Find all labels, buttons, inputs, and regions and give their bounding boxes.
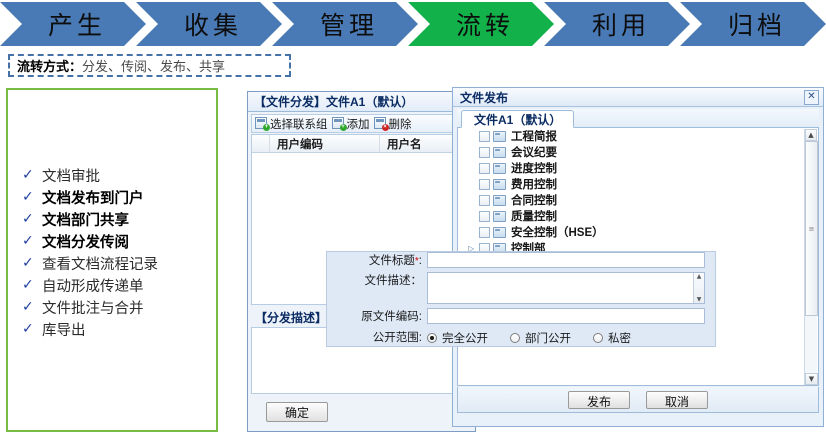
tree-node-checkbox[interactable]	[479, 195, 490, 206]
toolbar-button-label: 添加	[347, 116, 370, 132]
checklist-item-label: 查看文档流程记录	[42, 253, 158, 274]
feature-checklist: ✓文档审批✓文档发布到门户✓文档部门共享✓文档分发传阅✓查看文档流程记录✓自动形…	[22, 164, 158, 340]
process-step-6: 归档	[680, 2, 826, 46]
tree-node[interactable]: 工程简报	[458, 128, 818, 144]
file-distribution-toolbar: +选择联系组+添加×删除	[251, 114, 472, 133]
orig-file-code-label: 原文件编码:	[327, 308, 427, 327]
tree-node-checkbox[interactable]	[479, 227, 490, 238]
flow-method-value: 分发、传阅、发布、共享	[82, 56, 225, 75]
scope-label: 公开范围:	[327, 329, 427, 348]
toolbar-button-label: 删除	[389, 116, 412, 132]
radio-icon[interactable]	[427, 333, 437, 343]
form-row-title: 文件标题*:	[327, 252, 715, 272]
tree-node[interactable]: 费用控制	[458, 176, 818, 192]
checklist-item: ✓文档部门共享	[22, 208, 158, 230]
checklist-item: ✓文档分发传阅	[22, 230, 158, 252]
checklist-item: ✓自动形成传递单	[22, 274, 158, 296]
tree-node-label: 费用控制	[511, 176, 557, 192]
check-icon: ✓	[22, 321, 42, 337]
checklist-item-label: 文档发布到门户	[42, 187, 144, 208]
check-icon: ✓	[22, 167, 42, 183]
tree-node-label: 合同控制	[511, 192, 557, 208]
flow-method-title: 流转方式：	[17, 56, 82, 75]
tree-node-label: 工程简报	[511, 128, 557, 144]
checklist-item: ✓文档发布到门户	[22, 186, 158, 208]
file-info-form-dialog: 文件标题*: 文件描述： ▲ ▼ 原文件编码: 公开范围: 完全公开部门公开私密	[326, 251, 716, 347]
process-step-4: 流转	[408, 2, 554, 46]
delete-icon: ×	[374, 117, 388, 130]
process-step-1: 产生	[0, 2, 146, 46]
scrollbar-thumb[interactable]: ≡	[805, 141, 818, 316]
tree-node[interactable]: 安全控制（HSE）	[458, 224, 818, 240]
process-step-label: 产生	[48, 6, 106, 42]
radio-icon[interactable]	[510, 333, 520, 343]
toolbar-select-group[interactable]: +选择联系组	[255, 116, 328, 132]
process-banner: 产生收集管理流转利用归档	[0, 2, 826, 46]
checklist-item-label: 文件批注与合并	[42, 297, 144, 318]
scope-radio-label: 完全公开	[442, 330, 488, 346]
file-title-label: 文件标题*:	[327, 252, 427, 271]
file-publish-title: 文件发布	[460, 89, 804, 106]
textarea-scrollbar[interactable]: ▲ ▼	[693, 273, 704, 303]
user-grid-header: 用户编码 用户名	[252, 135, 471, 153]
tab-file-a1[interactable]: 文件A1（默认）	[461, 110, 574, 128]
folder-icon	[493, 179, 506, 190]
process-step-label: 归档	[728, 6, 786, 42]
file-distribution-title: 【文件分发】文件A1（默认）	[248, 92, 475, 112]
process-step-5: 利用	[544, 2, 690, 46]
checklist-item-label: 文档部门共享	[42, 209, 129, 230]
checklist-item: ✓文档审批	[22, 164, 158, 186]
tree-node-label: 进度控制	[511, 160, 557, 176]
scroll-down-icon[interactable]: ▼	[697, 296, 702, 303]
tree-node[interactable]: 会议纪要	[458, 144, 818, 160]
scope-option-group: 完全公开部门公开私密	[427, 330, 653, 346]
tree-node-label: 安全控制（HSE）	[511, 224, 604, 240]
scope-radio-option[interactable]: 部门公开	[510, 330, 571, 346]
form-row-origcode: 原文件编码:	[327, 308, 715, 328]
scope-radio-option[interactable]: 私密	[593, 330, 631, 346]
tree-node-checkbox[interactable]	[479, 211, 490, 222]
file-publish-tabstrip: 文件A1（默认）	[457, 109, 819, 128]
toolbar-button-label: 选择联系组	[270, 116, 328, 132]
user-grid-col-code: 用户编码	[270, 135, 380, 152]
check-icon: ✓	[22, 255, 42, 271]
scope-radio-label: 私密	[608, 330, 631, 346]
checklist-item-label: 自动形成传递单	[42, 275, 144, 296]
form-row-desc: 文件描述： ▲ ▼	[327, 272, 715, 308]
close-icon[interactable]: ✕	[804, 90, 819, 105]
select-group-icon: +	[255, 117, 269, 130]
checklist-item: ✓查看文档流程记录	[22, 252, 158, 274]
toolbar-add[interactable]: +添加	[332, 116, 370, 132]
tree-node-label: 会议纪要	[511, 144, 557, 160]
tree-node[interactable]: 质量控制	[458, 208, 818, 224]
form-row-scope: 公开范围: 完全公开部门公开私密	[327, 328, 715, 348]
file-publish-titlebar: 文件发布 ✕	[453, 88, 823, 107]
check-icon: ✓	[22, 233, 42, 249]
folder-icon	[493, 211, 506, 222]
process-step-label: 管理	[320, 6, 378, 42]
cancel-button[interactable]: 取消	[646, 391, 708, 409]
check-icon: ✓	[22, 299, 42, 315]
add-icon: +	[332, 117, 346, 130]
tree-node-checkbox[interactable]	[479, 179, 490, 190]
tree-node-label: 质量控制	[511, 208, 557, 224]
scroll-up-icon[interactable]: ▲	[697, 273, 702, 280]
file-desc-textarea[interactable]: ▲ ▼	[427, 272, 705, 304]
user-grid-col-select	[252, 135, 270, 152]
confirm-button[interactable]: 确定	[266, 402, 328, 422]
checklist-item-label: 库导出	[42, 319, 86, 340]
tree-node-checkbox[interactable]	[479, 163, 490, 174]
tree-node[interactable]: 合同控制	[458, 192, 818, 208]
scroll-down-icon[interactable]: ▼	[805, 373, 818, 385]
folder-icon	[493, 131, 506, 142]
file-title-input[interactable]	[427, 252, 705, 268]
checklist-item: ✓文件批注与合并	[22, 296, 158, 318]
checklist-item-label: 文档审批	[42, 165, 100, 186]
toolbar-delete[interactable]: ×删除	[374, 116, 412, 132]
tree-node[interactable]: 进度控制	[458, 160, 818, 176]
radio-icon[interactable]	[593, 333, 603, 343]
scope-radio-label: 部门公开	[525, 330, 571, 346]
process-step-label: 利用	[592, 6, 650, 42]
folder-icon	[493, 227, 506, 238]
process-step-2: 收集	[136, 2, 282, 46]
checklist-item: ✓库导出	[22, 318, 158, 340]
check-icon: ✓	[22, 189, 42, 205]
tree-node-checkbox[interactable]	[479, 147, 490, 158]
folder-icon	[493, 195, 506, 206]
folder-icon	[493, 163, 506, 174]
process-step-label: 收集	[184, 6, 242, 42]
publish-button[interactable]: 发布	[568, 391, 630, 409]
folder-icon	[493, 147, 506, 158]
folder-tree-scrollbar[interactable]: ▲ ≡ ▼	[804, 129, 817, 385]
orig-file-code-input[interactable]	[427, 308, 705, 324]
process-step-3: 管理	[272, 2, 418, 46]
check-icon: ✓	[22, 211, 42, 227]
feature-checklist-panel: ✓文档审批✓文档发布到门户✓文档部门共享✓文档分发传阅✓查看文档流程记录✓自动形…	[6, 88, 218, 432]
scope-radio-option[interactable]: 完全公开	[427, 330, 488, 346]
flow-method-note: 流转方式：分发、传阅、发布、共享	[8, 54, 291, 77]
scroll-up-icon[interactable]: ▲	[805, 129, 817, 141]
file-desc-label: 文件描述：	[327, 272, 427, 291]
tree-node-checkbox[interactable]	[479, 131, 490, 142]
checklist-item-label: 文档分发传阅	[42, 231, 129, 252]
file-publish-footer: 发布 取消	[457, 387, 819, 413]
process-step-label: 流转	[456, 6, 514, 42]
check-icon: ✓	[22, 277, 42, 293]
